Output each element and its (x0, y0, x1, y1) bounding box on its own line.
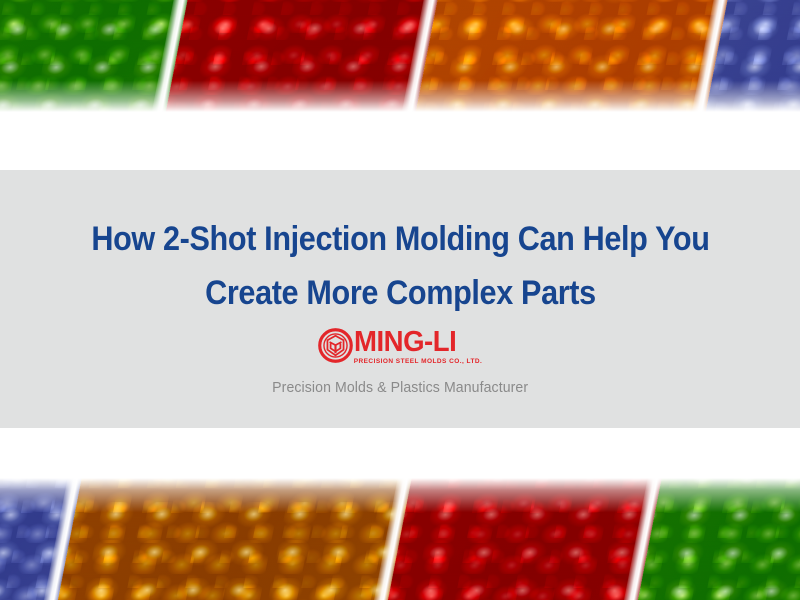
top-pellet-bins (0, 0, 800, 112)
page-title-line-1: How 2-Shot Injection Molding Can Help Yo… (91, 220, 709, 258)
red-pellets-texture (145, 0, 446, 112)
bottom-bin-amber (45, 478, 426, 600)
company-logo: MING-LI PRECISION STEEL MOLDS CO., LTD. (318, 328, 483, 366)
top-bin-orange (395, 0, 736, 112)
page-title-line-2: Create More Complex Parts (205, 274, 596, 312)
logo-company-name: MING-LI (354, 328, 456, 356)
logo-company-subtitle: PRECISION STEEL MOLDS CO., LTD. (354, 357, 483, 366)
green-pellets-texture (0, 0, 195, 112)
top-banner-image (0, 0, 800, 112)
title-content-band: How 2-Shot Injection Molding Can Help Yo… (0, 170, 800, 428)
red-pellets-texture (375, 478, 676, 600)
bottom-pellet-bins (0, 478, 800, 600)
amber-pellets-texture (45, 478, 426, 600)
bottom-bin-red (375, 478, 676, 600)
logo-wordmark: MING-LI PRECISION STEEL MOLDS CO., LTD. (354, 328, 483, 366)
blog-title-slide: How 2-Shot Injection Molding Can Help Yo… (0, 0, 800, 600)
bottom-banner-image (0, 478, 800, 600)
top-bin-red (145, 0, 446, 112)
orange-pellets-texture (395, 0, 736, 112)
company-tagline: Precision Molds & Plastics Manufacturer (272, 379, 528, 396)
top-bin-green (0, 0, 195, 112)
page-title: How 2-Shot Injection Molding Can Help Yo… (60, 212, 739, 320)
ming-li-hexagon-emblem-icon (318, 328, 353, 363)
